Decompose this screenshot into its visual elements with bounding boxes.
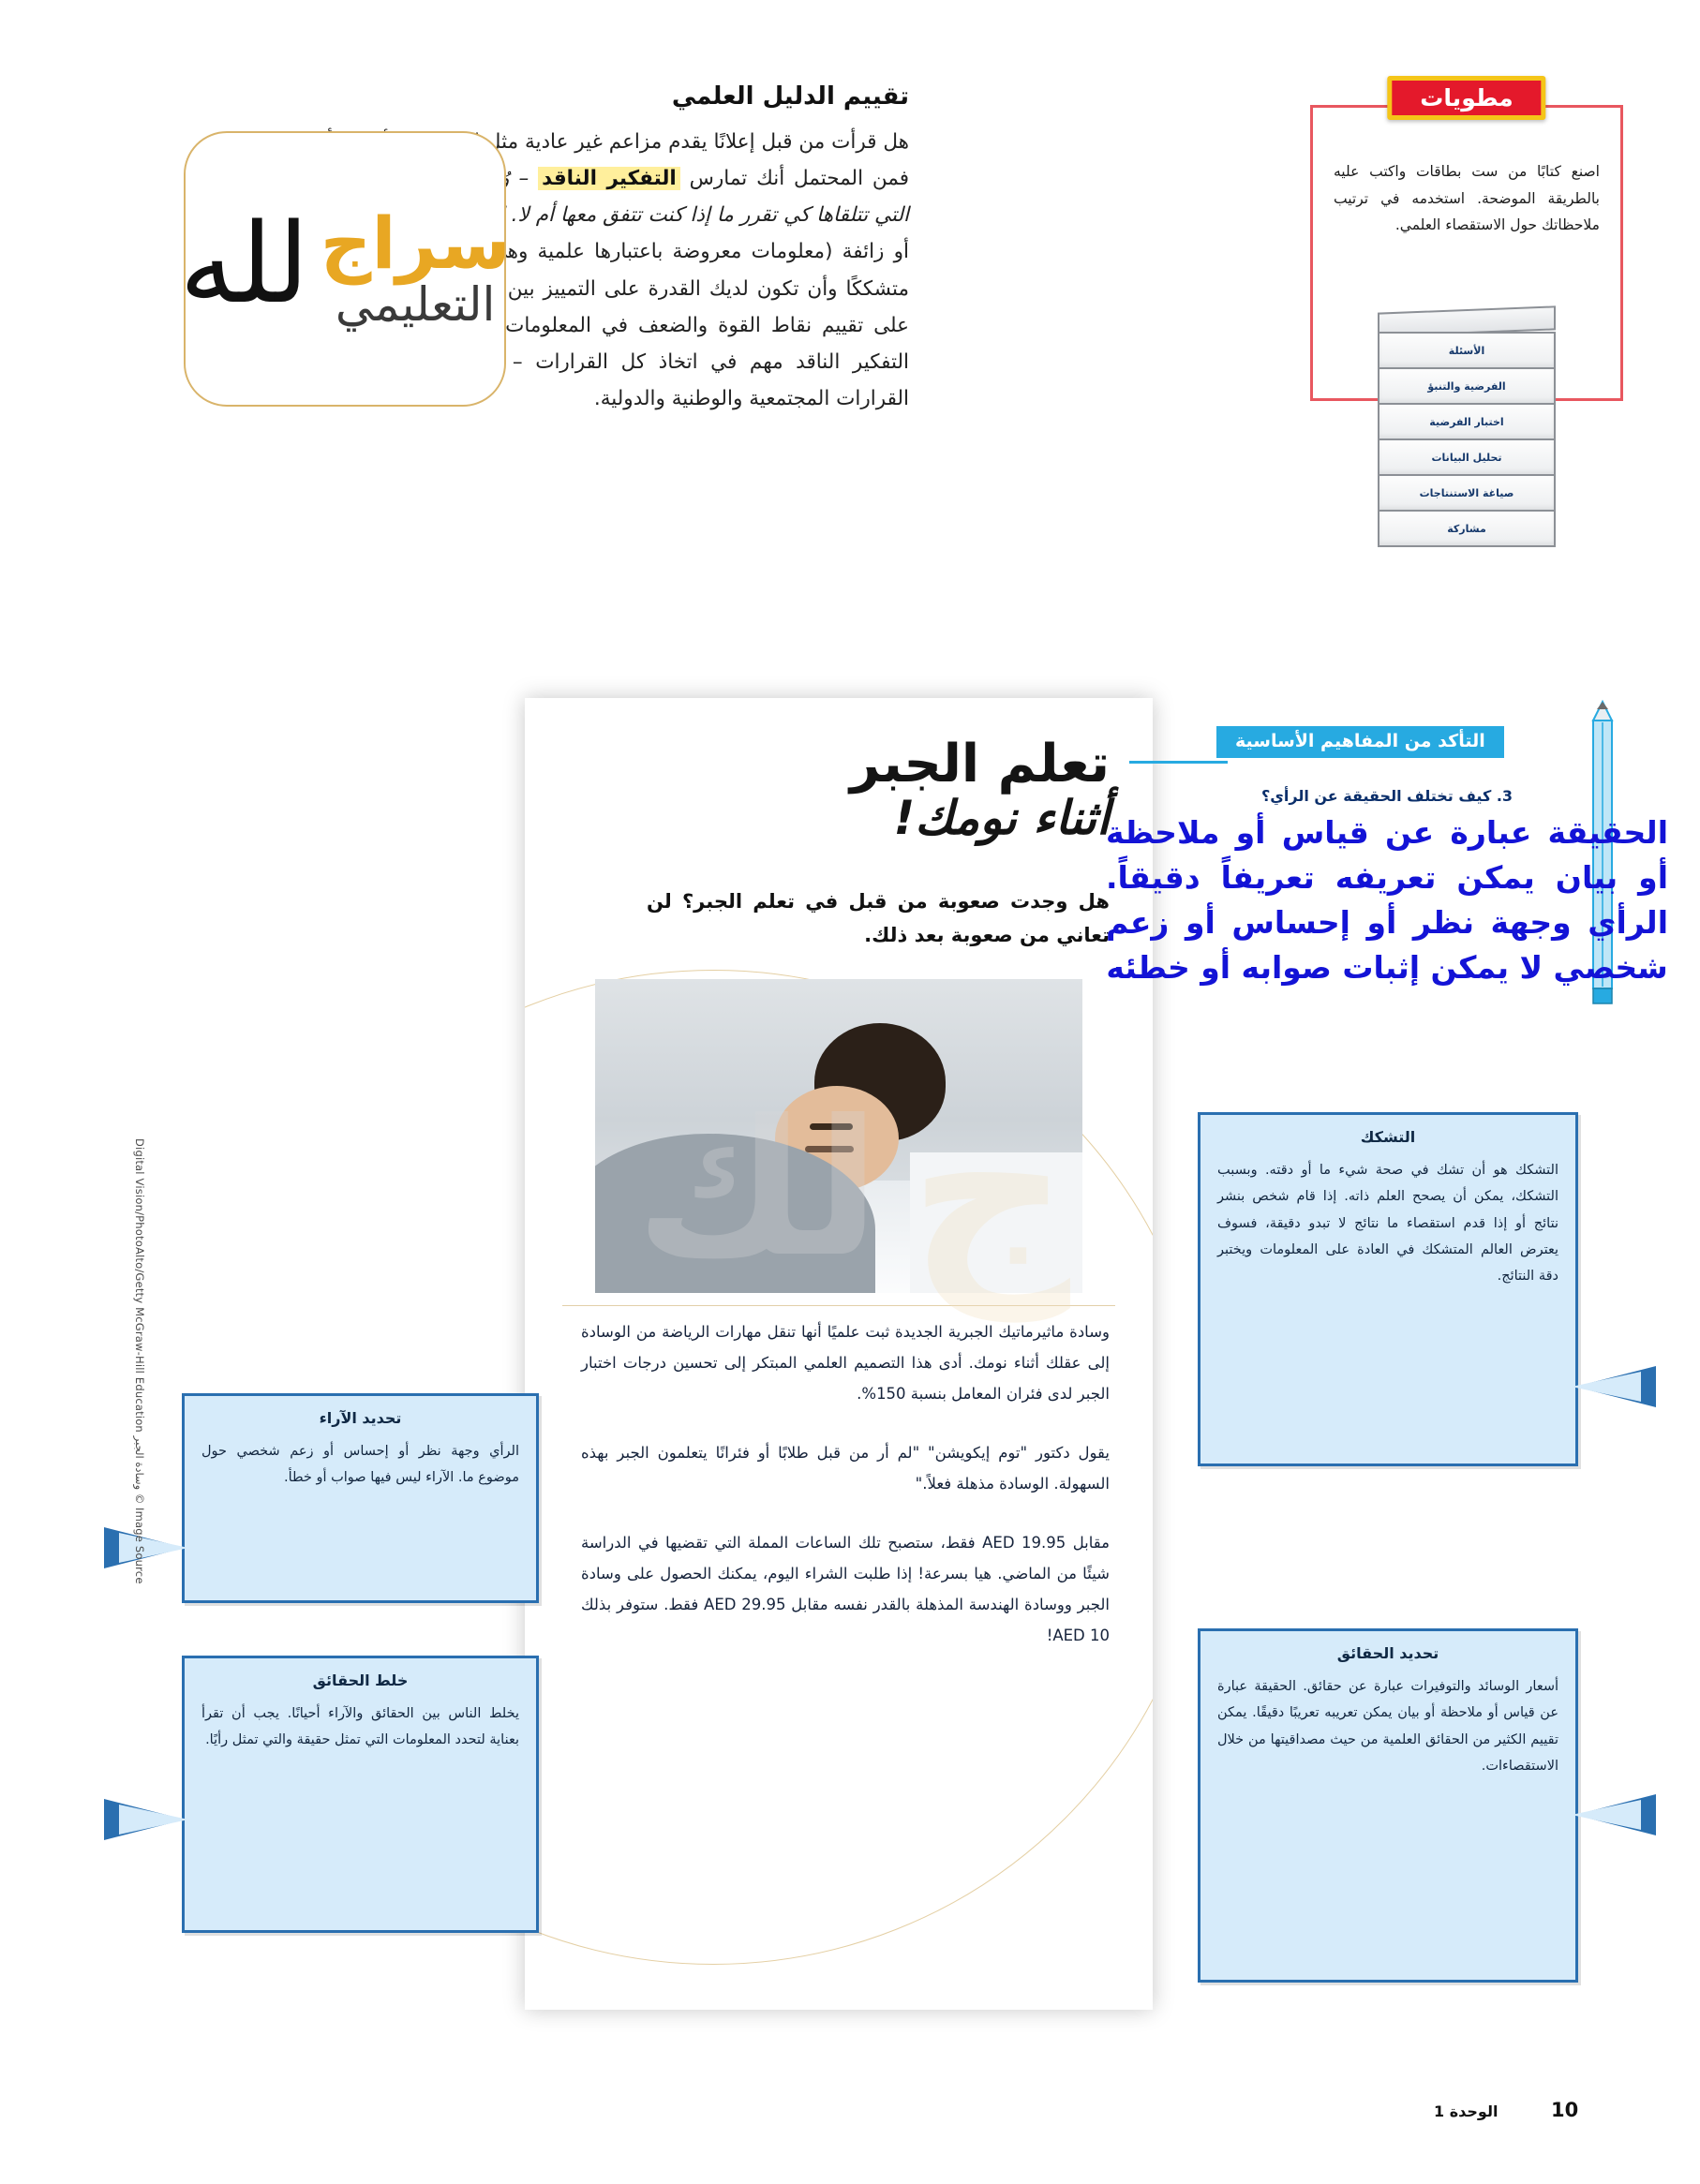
- magazine-article-card: تعلم الجبر أثناء نومك! هل وجدت صعوبة من …: [525, 698, 1153, 2010]
- concepts-check-block: 3. كيف تختلف الحقيقة عن الرأي؟ الحقيقة ع…: [1106, 787, 1668, 989]
- concepts-question: 3. كيف تختلف الحقيقة عن الرأي؟: [1106, 787, 1668, 805]
- footer-page-number: 10: [1551, 2099, 1578, 2121]
- logo-word-bottom: التعليمي: [336, 279, 496, 331]
- callout-title: خلط الحقائق: [200, 1671, 521, 1689]
- article-paragraph-3: مقابل AED 19.95 فقط، ستصبح تلك الساعات ا…: [581, 1527, 1110, 1651]
- callout-identify-facts: تحديد الحقائق أسعار الوسائد والتوفيرات ع…: [1198, 1628, 1578, 1983]
- article-lede: هل وجدت صعوبة من قبل في تعلم الجبر؟ لن ت…: [647, 885, 1110, 952]
- callout-tail-inner: [1572, 1800, 1641, 1830]
- article-paragraph-1: وسادة ماثيرماتيك الجبرية الجديدة ثبت علم…: [581, 1316, 1110, 1409]
- callout-title: تحديد الحقائق: [1215, 1644, 1560, 1662]
- sleeping-boy-photo: [595, 979, 1082, 1293]
- callout-skepticism: التشكك التشكك هو أن تشك في صحة شيء ما أو…: [1198, 1112, 1578, 1466]
- callout-text: أسعار الوسائد والتوفيرات عبارة عن حقائق.…: [1217, 1673, 1558, 1779]
- page-title: تقييم الدليل العلمي: [234, 82, 909, 111]
- concepts-rule-line: [1129, 761, 1228, 764]
- headline-line-1: تعلم الجبر: [850, 737, 1110, 793]
- foldable-instructions: اصنع كتابًا من ست بطاقات واكتب عليه بالط…: [1313, 108, 1620, 239]
- logo-wordmark: سراج التعليمي: [321, 208, 511, 331]
- callout-title: تحديد الآراء: [200, 1409, 521, 1427]
- photo-eyebrow: [810, 1123, 853, 1130]
- callout-identify-opinions: تحديد الآراء الرأي وجهة نظر أو إحساس أو …: [182, 1393, 539, 1603]
- foldable-booklet-diagram: الأسئلة الفرضية والتنبؤ اختبار الفرضية ت…: [1378, 309, 1556, 445]
- booklet-strip: صياغة الاستنتاجات: [1378, 474, 1556, 512]
- photo-closed-eye: [805, 1146, 854, 1152]
- booklet-strip: تحليل البيانات: [1378, 438, 1556, 476]
- callout-text: الرأي وجهة نظر أو إحساس أو زعم شخصي حول …: [201, 1438, 519, 1492]
- callout-tail-inner: [119, 1805, 188, 1835]
- torn-paper-edge: [525, 1978, 1153, 2010]
- headline-line-2: أثناء نومك!: [850, 793, 1110, 844]
- booklet-strip: اختبار الفرضية: [1378, 403, 1556, 440]
- article-paragraph-2: يقول دكتور "توم إيكويشن" "لم أر من قبل ط…: [581, 1437, 1110, 1499]
- siraj-logo: سراج التعليمي لله: [184, 131, 506, 407]
- booklet-strip: الفرضية والتنبؤ: [1378, 367, 1556, 405]
- photo-credit: Digital Vision/PhotoAlto/Getty McGraw-Hi…: [133, 1138, 146, 1541]
- logo-calligraphy-icon: لله: [179, 214, 308, 313]
- callout-tail-inner: [1572, 1372, 1641, 1402]
- magazine-inner: تعلم الجبر أثناء نومك! هل وجدت صعوبة من …: [525, 698, 1153, 2010]
- foldable-title-badge: مطويات: [1387, 76, 1545, 120]
- article-body: وسادة ماثيرماتيك الجبرية الجديدة ثبت علم…: [581, 1316, 1110, 1679]
- callout-text: التشكك هو أن تشك في صحة شيء ما أو دقته. …: [1217, 1157, 1558, 1289]
- callout-mixing-facts: خلط الحقائق يخلط الناس بين الحقائق والآر…: [182, 1656, 539, 1933]
- concepts-handwritten-answer: الحقيقة عبارة عن قياس أو ملاحظة أو بيان …: [1106, 810, 1668, 989]
- callout-tail-inner: [119, 1533, 188, 1563]
- callout-text: يخلط الناس بين الحقائق والآراء أحيانًا. …: [201, 1701, 519, 1754]
- article-headline: تعلم الجبر أثناء نومك!: [850, 737, 1110, 844]
- callout-title: التشكك: [1215, 1128, 1560, 1146]
- logo-word-top: سراج: [321, 208, 511, 279]
- photo-sheet: [910, 1152, 1082, 1293]
- footer-unit-label: الوحدة 1: [1434, 2102, 1498, 2120]
- booklet-strip: مشاركة: [1378, 510, 1556, 547]
- article-divider: [562, 1305, 1115, 1306]
- critical-thinking-keyword: التفكير الناقد: [538, 167, 680, 190]
- evidence-line-8: والوطنية والدولية.: [594, 387, 742, 410]
- booklet-strip: الأسئلة: [1378, 332, 1556, 369]
- concepts-check-tab: التأكد من المفاهيم الأساسية: [1216, 726, 1504, 758]
